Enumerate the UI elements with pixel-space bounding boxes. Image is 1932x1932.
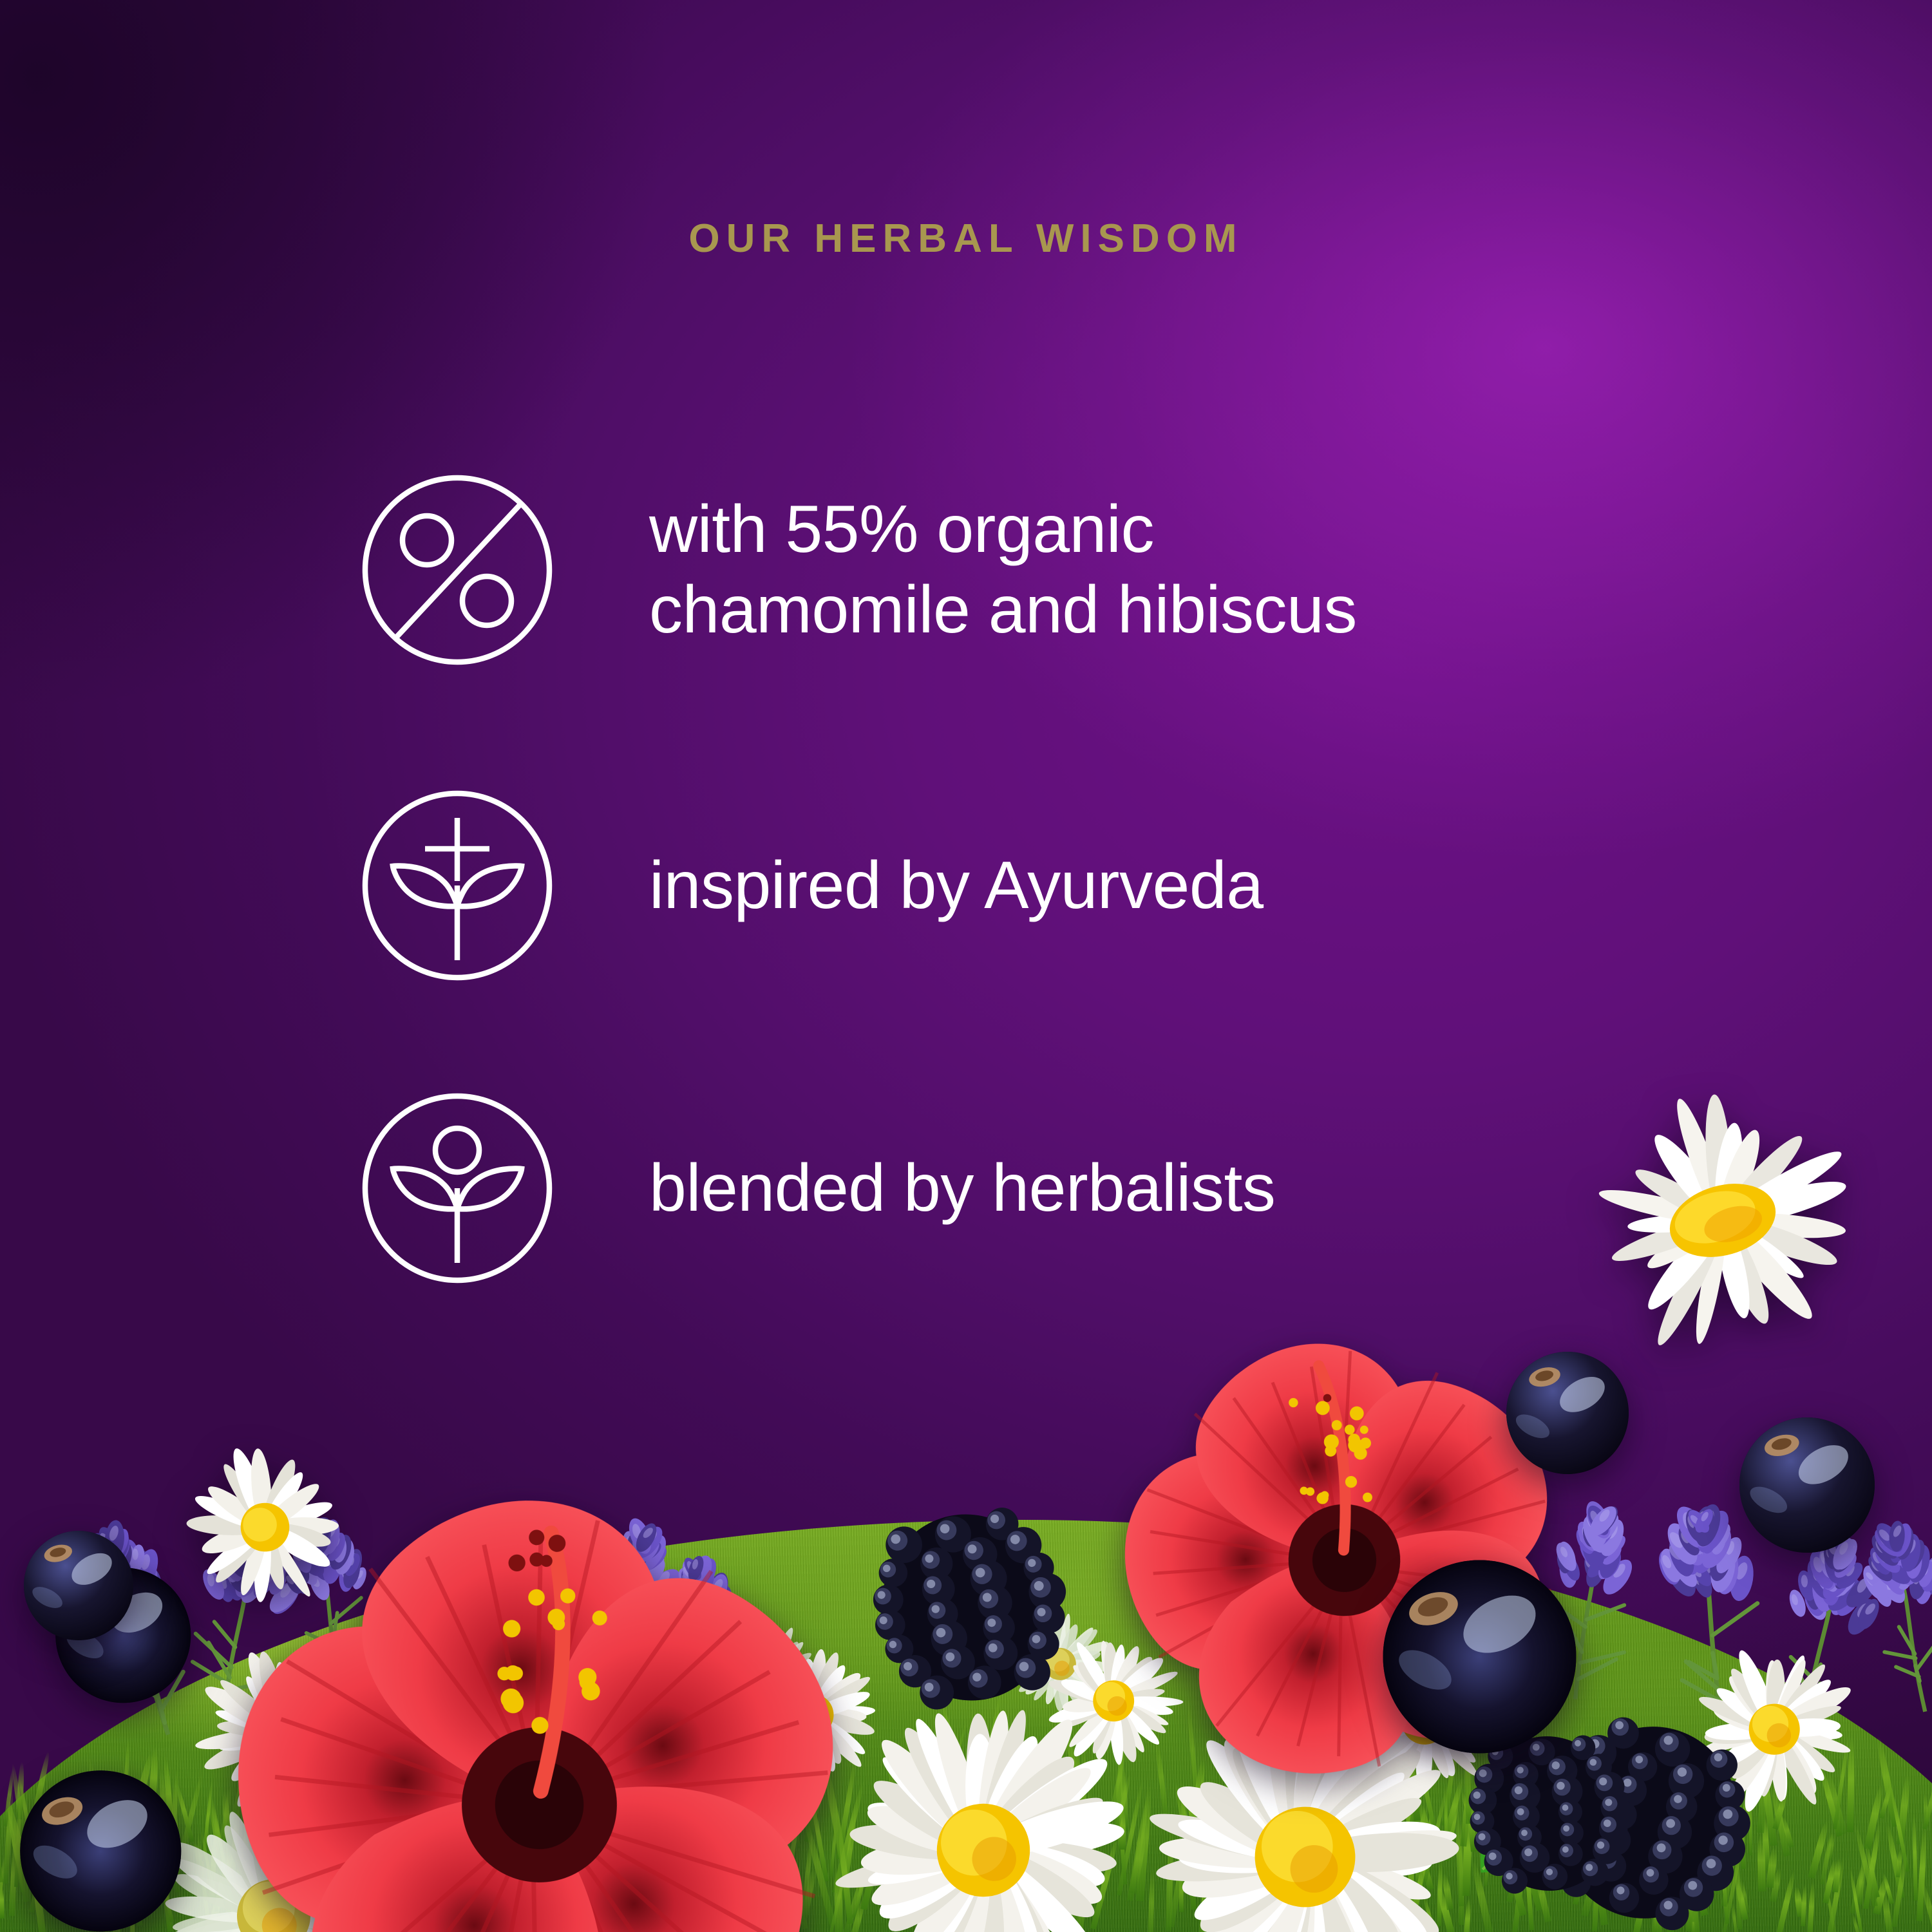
benefit-row-herbalists: blended by herbalists (361, 1092, 1275, 1285)
plant-cross-circle-icon (361, 789, 554, 982)
plant-bloom-circle-icon (361, 1092, 554, 1285)
benefit-row-organic: with 55% organic chamomile and hibiscus (361, 473, 1357, 667)
benefit-list: with 55% organic chamomile and hibiscus (0, 0, 1932, 1932)
benefit-row-ayurveda: inspired by Ayurveda (361, 789, 1264, 982)
benefit-label-herbalists: blended by herbalists (649, 1148, 1275, 1229)
benefit-label-organic: with 55% organic chamomile and hibiscus (649, 489, 1357, 650)
percent-circle-icon (361, 473, 554, 667)
poster-canvas: OUR HERBAL WISDOM with 55% organic chamo… (0, 0, 1932, 1932)
benefit-label-ayurveda: inspired by Ayurveda (649, 846, 1264, 926)
